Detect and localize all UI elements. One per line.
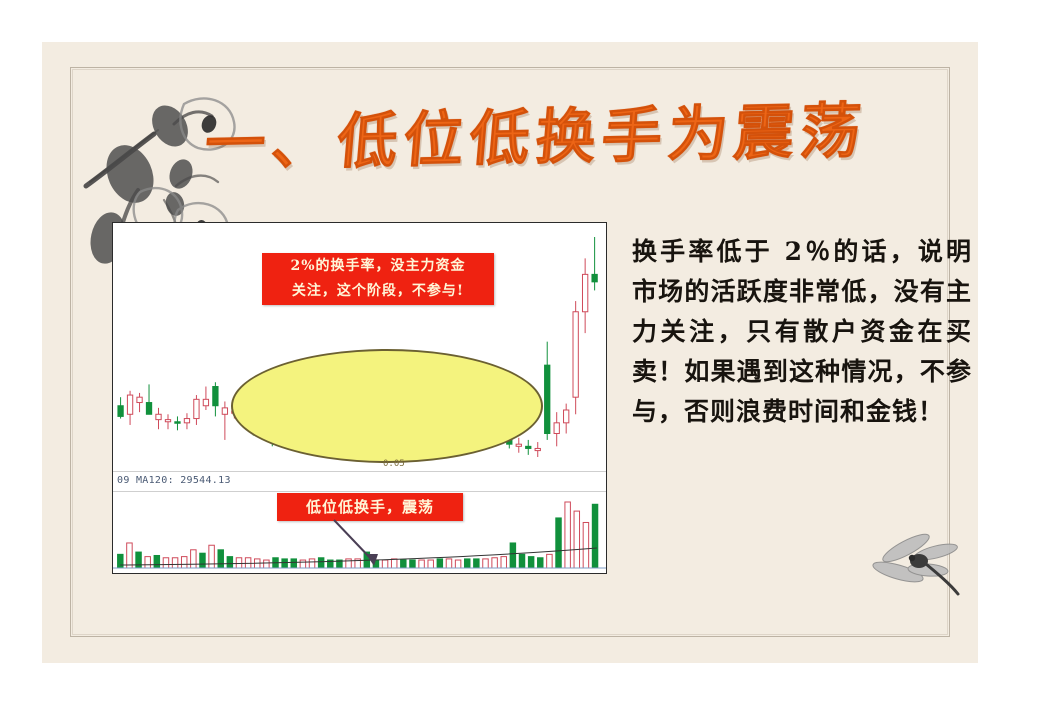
annotation-box-top-line2: 关注，这个阶段，不参与! xyxy=(262,279,494,304)
slide-root: 一、低位低换手为震荡 换手率低于 2％的话，说明市场的活跃度非常低，没有主力关注… xyxy=(0,0,1048,709)
ellipse-value-label: 0.05 xyxy=(383,459,405,469)
highlight-ellipse xyxy=(231,349,543,463)
annotation-box-bottom: 低位低换手，震荡 xyxy=(277,493,463,521)
page-title: 一、低位低换手为震荡 xyxy=(202,90,890,186)
panel-divider xyxy=(113,471,606,472)
annotation-box-top-line1: 2%的换手率，没主力资金 xyxy=(262,254,494,279)
ma-info-text: 09 MA120: 29544.13 xyxy=(117,475,231,486)
annotation-box-top: 2%的换手率，没主力资金 关注，这个阶段，不参与! xyxy=(262,253,494,305)
body-paragraph: 换手率低于 2％的话，说明市场的活跃度非常低，没有主力关注，只有散户资金在买卖！… xyxy=(632,232,972,432)
